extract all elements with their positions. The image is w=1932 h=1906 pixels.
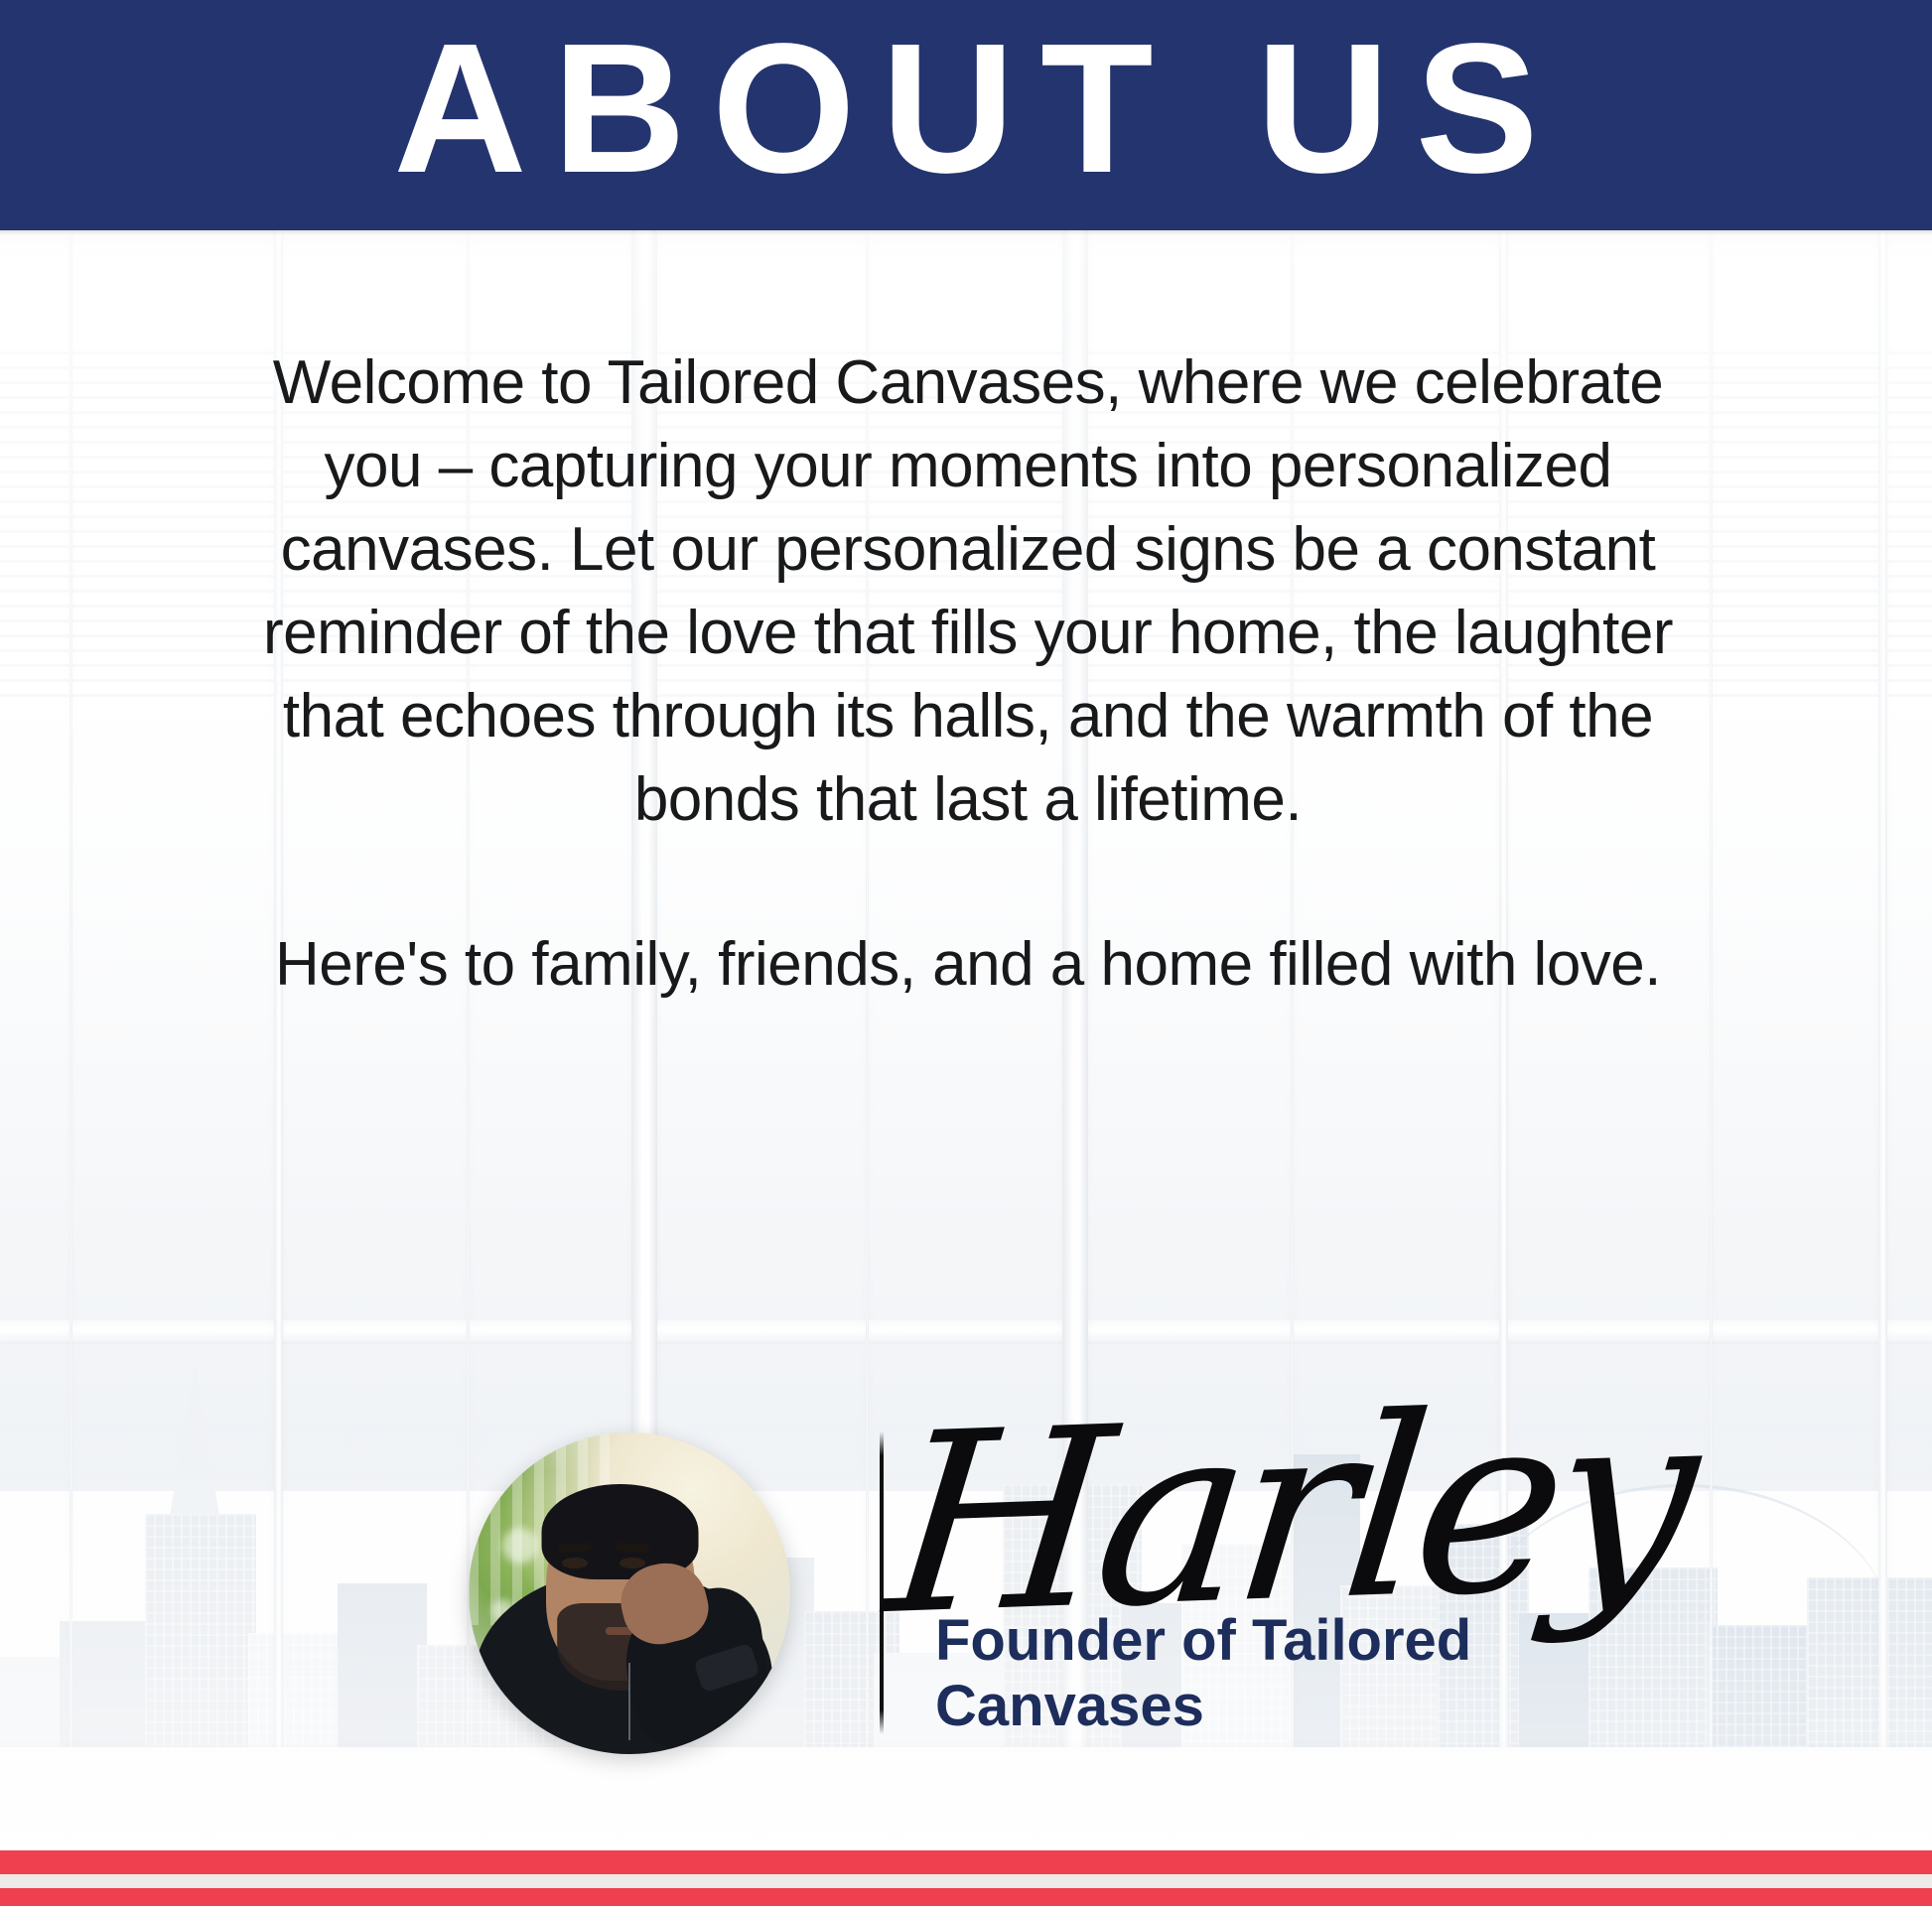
avatar-necklace [628, 1663, 630, 1740]
avatar-bokeh [502, 1528, 538, 1564]
about-paragraph-1: Welcome to Tailored Canvases, where we c… [253, 341, 1683, 842]
footer-bar-bottom [0, 1888, 1932, 1906]
footer-bar-top [0, 1850, 1932, 1874]
about-us-poster: ABOUT US Welcome to Tailored Canvases, w… [0, 0, 1932, 1906]
avatar-eye [620, 1558, 645, 1568]
footer-bar-gap [0, 1874, 1932, 1888]
header-banner: ABOUT US [0, 0, 1932, 230]
paragraph-spacer [253, 842, 1683, 923]
avatar [469, 1432, 790, 1754]
signature-divider [880, 1431, 884, 1734]
header-shadow-divider [0, 230, 1932, 235]
about-us-body-copy: Welcome to Tailored Canvases, where we c… [253, 341, 1683, 1007]
about-paragraph-2: Here's to family, friends, and a home fi… [253, 923, 1683, 1007]
founder-title: Founder of Tailored Canvases [935, 1608, 1571, 1739]
founder-title-line-1: Founder of Tailored [935, 1608, 1571, 1674]
page-title: ABOUT US [367, 17, 1564, 202]
founder-title-line-2: Canvases [935, 1674, 1571, 1739]
avatar-eye [562, 1558, 588, 1568]
